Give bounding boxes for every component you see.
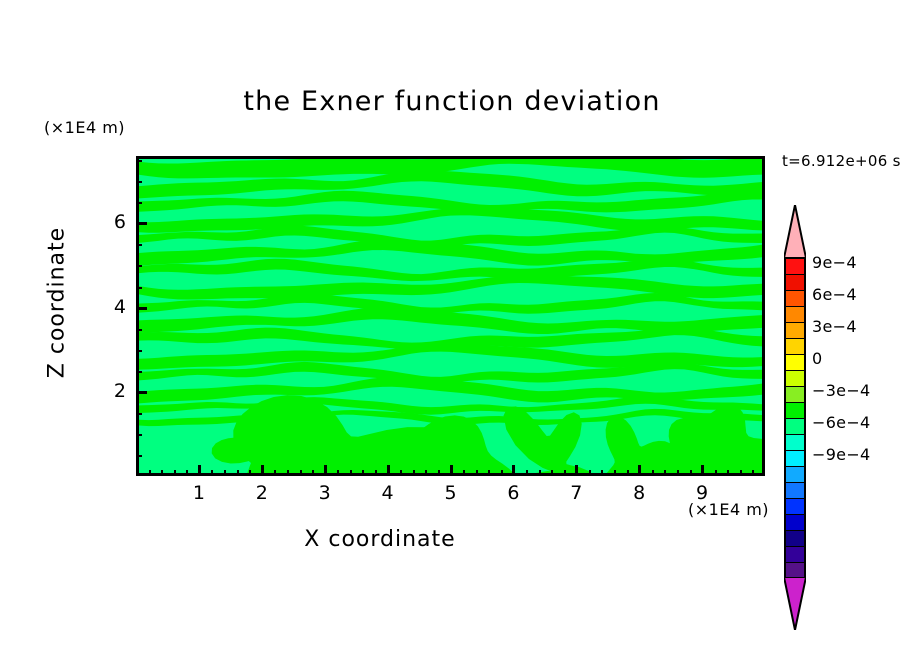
- y-tick-minor: [136, 244, 142, 246]
- colorbar-tick-label: 6e−4: [812, 285, 857, 304]
- page-title: the Exner function deviation: [0, 86, 904, 117]
- y-tick-label: 4: [92, 296, 126, 318]
- colorbar-band: [786, 499, 804, 515]
- y-tick-major: [136, 222, 147, 225]
- x-tick-label: 7: [561, 482, 591, 504]
- y-tick-minor: [136, 181, 142, 183]
- x-tick-label: 5: [436, 482, 466, 504]
- colorbar-band: [786, 307, 804, 323]
- y-tick-minor: [136, 265, 142, 267]
- colorbar-tick-label: 0: [812, 349, 822, 368]
- colorbar-band: [786, 531, 804, 547]
- colorbar-tick-label: −9e−4: [812, 445, 871, 464]
- y-axis-unit-label: (×1E4 m): [44, 118, 125, 137]
- colorbar-band: [786, 339, 804, 355]
- y-tick-major: [136, 391, 147, 394]
- colorbar-band: [786, 259, 804, 275]
- colorbar-top-arrow-icon: [784, 205, 806, 258]
- y-tick-label: 2: [92, 380, 126, 402]
- x-axis-title: X coordinate: [0, 527, 760, 552]
- x-tick-label: 1: [184, 482, 214, 504]
- colorbar-band: [786, 435, 804, 451]
- y-tick-label: 6: [92, 211, 126, 233]
- y-tick-minor: [136, 287, 142, 289]
- y-tick-major: [136, 307, 147, 310]
- colorbar-bottom-arrow-icon: [784, 577, 806, 630]
- x-tick-label: 8: [624, 482, 654, 504]
- y-tick-minor: [136, 371, 142, 373]
- colorbar: 9e−46e−43e−40−3e−4−6e−4−9e−4: [780, 205, 806, 505]
- colorbar-bands: [784, 257, 806, 581]
- x-tick-label: 2: [247, 482, 277, 504]
- colorbar-band: [786, 467, 804, 483]
- y-axis-ticks: [136, 156, 765, 476]
- y-tick-minor: [136, 202, 142, 204]
- x-tick-label: 4: [373, 482, 403, 504]
- colorbar-band: [786, 483, 804, 499]
- colorbar-band: [786, 547, 804, 563]
- colorbar-band: [786, 387, 804, 403]
- y-axis-title: Z coordinate: [45, 203, 70, 403]
- x-tick-label: 6: [498, 482, 528, 504]
- colorbar-tick-label: −6e−4: [812, 413, 871, 432]
- colorbar-tick-label: 9e−4: [812, 253, 857, 272]
- colorbar-band: [786, 371, 804, 387]
- colorbar-band: [786, 403, 804, 419]
- colorbar-band: [786, 419, 804, 435]
- y-tick-minor: [136, 413, 142, 415]
- y-tick-minor: [136, 455, 142, 457]
- x-tick-label: 3: [310, 482, 340, 504]
- colorbar-band: [786, 355, 804, 371]
- colorbar-tick-label: 3e−4: [812, 317, 857, 336]
- y-tick-minor: [136, 160, 142, 162]
- colorbar-band: [786, 291, 804, 307]
- colorbar-band: [786, 515, 804, 531]
- y-tick-minor: [136, 434, 142, 436]
- timestamp-label: t=6.912e+06 s: [782, 152, 901, 170]
- colorbar-band: [786, 451, 804, 467]
- colorbar-tick-label: −3e−4: [812, 381, 871, 400]
- y-tick-minor: [136, 329, 142, 331]
- colorbar-band: [786, 323, 804, 339]
- y-tick-minor: [136, 350, 142, 352]
- colorbar-band: [786, 275, 804, 291]
- x-axis-unit-label: (×1E4 m): [688, 500, 769, 519]
